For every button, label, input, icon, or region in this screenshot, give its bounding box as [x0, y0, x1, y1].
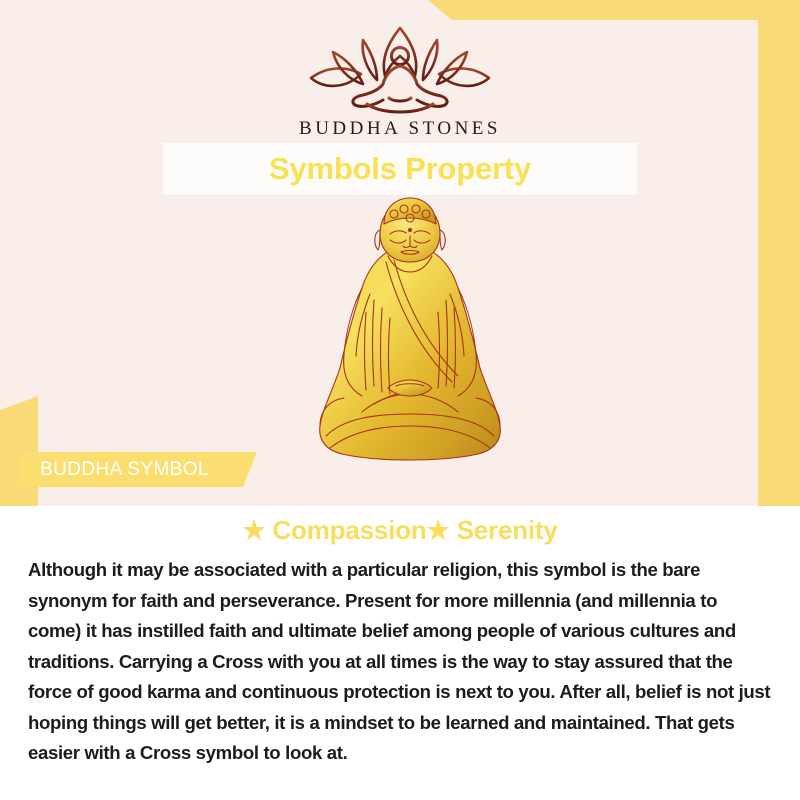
page-title: Symbols Property	[269, 151, 531, 187]
buddha-symbol-banner-label: BUDDHA SYMBOL	[40, 459, 209, 481]
brand-name: BUDDHA STONES	[0, 118, 800, 140]
section-headline: ★ Compassion★ Serenity	[0, 515, 800, 546]
lotus-meditation-figure-icon	[0, 22, 800, 114]
golden-buddha-statue-illustration	[300, 196, 520, 491]
section-body-text: Although it may be associated with a par…	[28, 555, 772, 769]
buddha-symbol-banner: BUDDHA SYMBOL	[19, 452, 257, 487]
infographic-page: BUDDHA STONES Symbols Property	[0, 0, 800, 800]
brand-logo: BUDDHA STONES	[0, 22, 800, 140]
title-band: Symbols Property	[163, 143, 637, 195]
content-section: ★ Compassion★ Serenity Although it may b…	[0, 506, 800, 800]
